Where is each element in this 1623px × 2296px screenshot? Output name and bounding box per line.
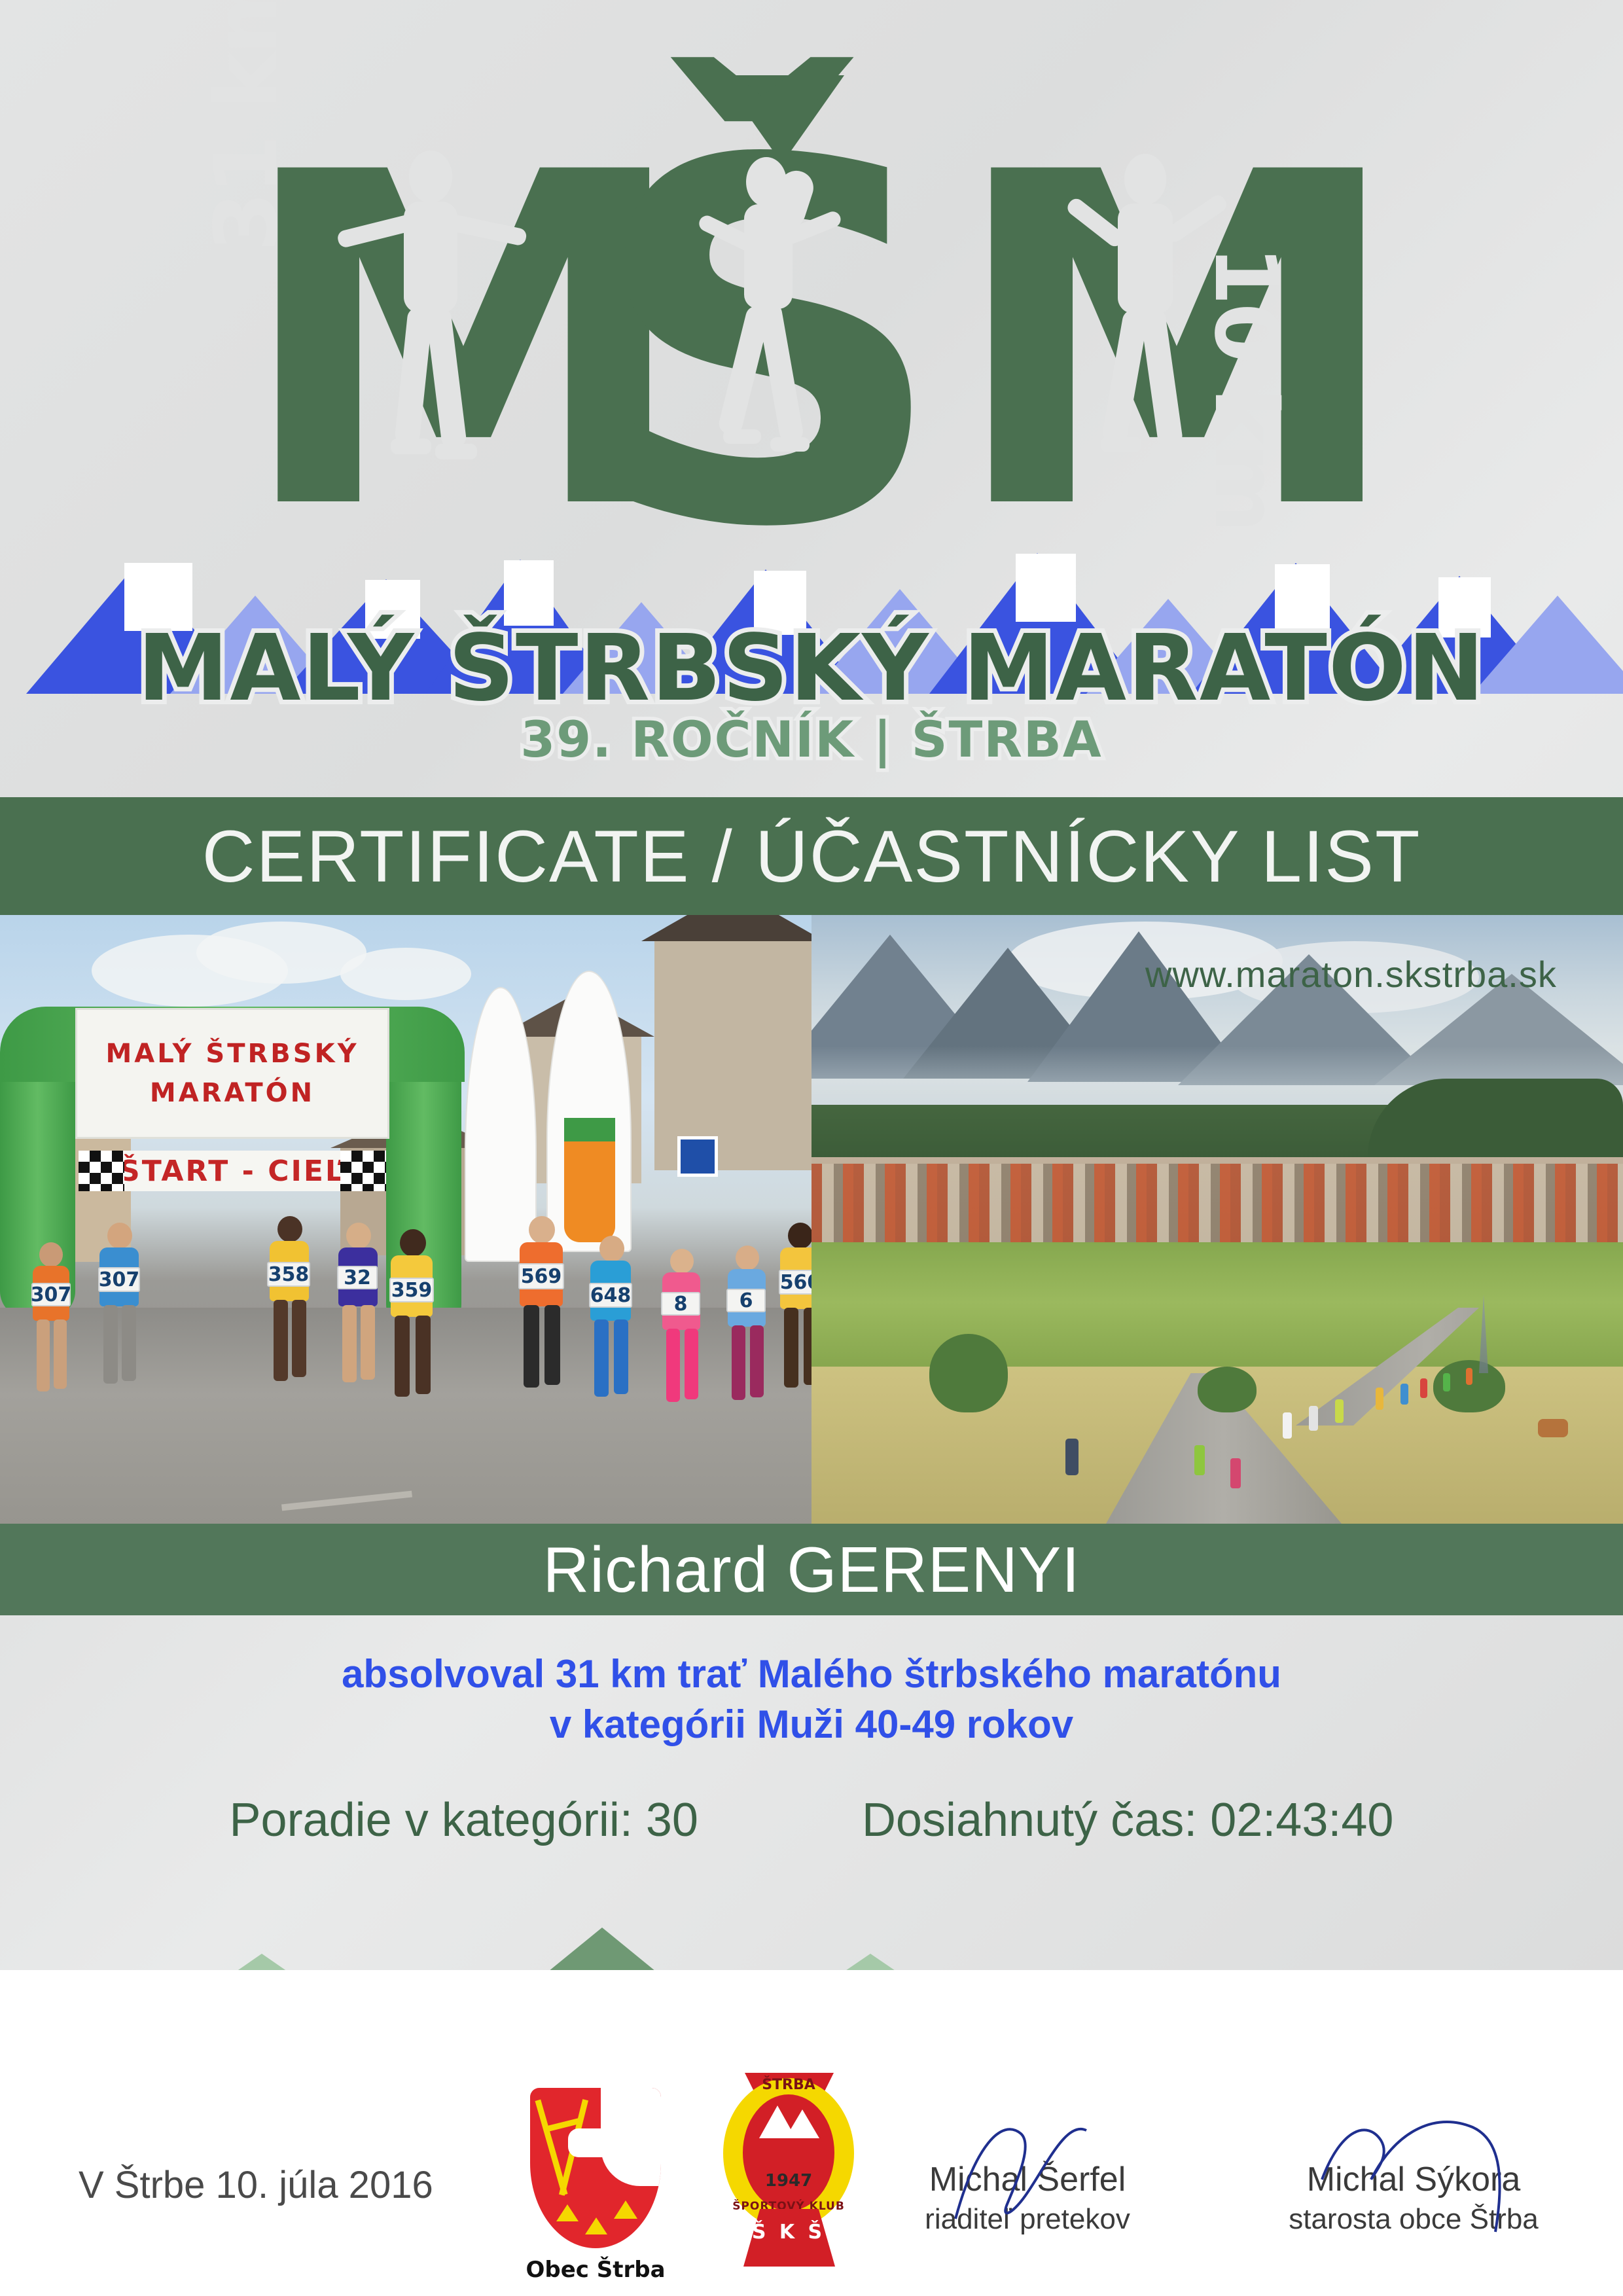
club-emblem-mountain-icon bbox=[785, 2109, 819, 2138]
club-emblem-bottom-text: Š K Š bbox=[713, 2221, 864, 2244]
runner-bib: 6 bbox=[726, 1289, 766, 1312]
building-shape bbox=[654, 935, 811, 1170]
race-runner: 307 bbox=[20, 1242, 79, 1412]
signature-block-director: Michal Šerfel riaditeľ pretekov bbox=[844, 2160, 1211, 2236]
cow bbox=[1538, 1419, 1568, 1437]
race-runner: 560 bbox=[766, 1223, 811, 1419]
distance-label-31km: 31 km bbox=[196, 0, 297, 252]
runner-bib: 358 bbox=[267, 1262, 310, 1287]
photo-strip: MALÝ ŠTRBSKÝ MARATÓN ŠTART - CIEĽ bbox=[0, 915, 1623, 1524]
certificate-footer: V Štrbe 10. júla 2016 Obec Štrba ŠTRBA bbox=[0, 1996, 1623, 2296]
checker-pattern-right bbox=[340, 1151, 386, 1191]
photo-race-landscape: www.maraton.skstrba.sk bbox=[811, 915, 1623, 1524]
description-line-2: v kategórii Muži 40-49 rokov bbox=[0, 1700, 1623, 1750]
handwritten-signature bbox=[936, 2108, 1132, 2232]
distant-runner bbox=[1466, 1368, 1472, 1385]
race-runner: 359 bbox=[376, 1229, 444, 1426]
arch-sign-line2: MARATÓN bbox=[150, 1078, 315, 1108]
start-finish-banner: ŠTART - CIEĽ bbox=[79, 1151, 386, 1191]
participant-name: Richard GERENYI bbox=[543, 1533, 1080, 1607]
club-emblem-year: 1947 bbox=[713, 2171, 864, 2191]
crest-shield-shape bbox=[530, 2088, 661, 2248]
crest-star bbox=[556, 2204, 579, 2221]
race-runner: 648 bbox=[576, 1236, 644, 1426]
race-runner: 307 bbox=[85, 1223, 151, 1412]
runner-bib: 648 bbox=[589, 1283, 632, 1308]
distant-runner bbox=[1230, 1458, 1241, 1488]
crest-hand bbox=[568, 2128, 631, 2157]
runner-bib: 560 bbox=[779, 1270, 811, 1295]
photo-race-start: MALÝ ŠTRBSKÝ MARATÓN ŠTART - CIEĽ bbox=[0, 915, 811, 1524]
checker-pattern-left bbox=[79, 1151, 124, 1191]
category-rank: Poradie v kategórii: 30 bbox=[230, 1793, 698, 1847]
msm-monogram: M Š M 31 km 10 km bbox=[0, 36, 1623, 579]
results-row: Poradie v kategórii: 30 Dosiahnutý čas: … bbox=[0, 1793, 1623, 1847]
runner-silhouette-female-center bbox=[684, 157, 867, 524]
certificate-title-text: CERTIFICATE / ÚČASTNÍCKY LIST bbox=[202, 814, 1421, 899]
cloud-shape bbox=[340, 948, 471, 1000]
arch-sign: MALÝ ŠTRBSKÝ MARATÓN bbox=[75, 1008, 389, 1139]
signature-block-mayor: Michal Sýkora starosta obce Štrba bbox=[1230, 2160, 1597, 2236]
handwritten-signature bbox=[1309, 2101, 1531, 2251]
arch-sign-line1: MALÝ ŠTRBSKÝ bbox=[105, 1039, 359, 1069]
event-logo: M Š M 31 km 10 km bbox=[0, 0, 1623, 782]
issue-date: V Štrbe 10. júla 2016 bbox=[79, 2163, 433, 2207]
distant-runner bbox=[1400, 1384, 1408, 1405]
tree-shape bbox=[929, 1334, 1008, 1412]
distant-runner bbox=[1194, 1445, 1205, 1475]
distant-runner bbox=[1420, 1378, 1427, 1398]
certificate-page: M Š M 31 km 10 km bbox=[0, 0, 1623, 2296]
runner-bib: 32 bbox=[337, 1266, 378, 1289]
participant-name-band: Richard GERENYI bbox=[0, 1524, 1623, 1615]
race-runner: 569 bbox=[504, 1216, 575, 1419]
start-finish-text: ŠTART - CIEĽ bbox=[119, 1155, 346, 1188]
club-emblem-top-text: ŠTRBA bbox=[713, 2077, 864, 2093]
runner-bib: 359 bbox=[389, 1278, 434, 1302]
event-subtitle: 39. ROČNÍK | ŠTRBA bbox=[0, 710, 1623, 768]
distant-runner bbox=[1376, 1388, 1383, 1410]
sports-club-emblem: ŠTRBA 1947 ŠPORTOVÝ KLUB Š K Š bbox=[713, 2078, 864, 2274]
flag-green-stripe bbox=[564, 1118, 615, 1141]
runner-silhouette-male-right bbox=[1041, 154, 1237, 511]
municipality-crest-label: Obec Štrba bbox=[510, 2257, 681, 2283]
runner-bib: 307 bbox=[31, 1283, 71, 1306]
runner-silhouette-male-left bbox=[330, 151, 527, 504]
website-url: www.maraton.skstrba.sk bbox=[1145, 953, 1557, 996]
achievement-description: absolvoval 31 km trať Malého štrbského m… bbox=[0, 1649, 1623, 1750]
runner-bib: 8 bbox=[661, 1292, 700, 1316]
runner-bib: 569 bbox=[518, 1263, 564, 1289]
race-runner: 358 bbox=[255, 1216, 321, 1412]
description-line-1: absolvoval 31 km trať Malého štrbského m… bbox=[0, 1649, 1623, 1700]
roof-shape bbox=[641, 915, 811, 941]
town-roofs bbox=[811, 1164, 1623, 1242]
crest-star bbox=[585, 2217, 607, 2234]
distant-runner bbox=[1443, 1373, 1450, 1391]
tree-shape bbox=[1198, 1367, 1257, 1412]
distant-runner bbox=[1335, 1399, 1344, 1423]
distant-runner bbox=[1309, 1406, 1318, 1431]
finish-time: Dosiahnutý čas: 02:43:40 bbox=[862, 1793, 1394, 1847]
distant-runner bbox=[1283, 1412, 1292, 1439]
municipality-crest: Obec Štrba bbox=[510, 2088, 681, 2284]
certificate-title-band: CERTIFICATE / ÚČASTNÍCKY LIST bbox=[0, 797, 1623, 915]
spectator bbox=[1065, 1439, 1079, 1475]
event-title: MALÝ ŠTRBSKÝ MARATÓN bbox=[0, 615, 1623, 722]
crest-star bbox=[614, 2200, 637, 2219]
pedestrian-crossing-sign bbox=[677, 1136, 718, 1177]
race-runner: 8 bbox=[648, 1249, 713, 1432]
runner-bib: 307 bbox=[98, 1267, 140, 1292]
